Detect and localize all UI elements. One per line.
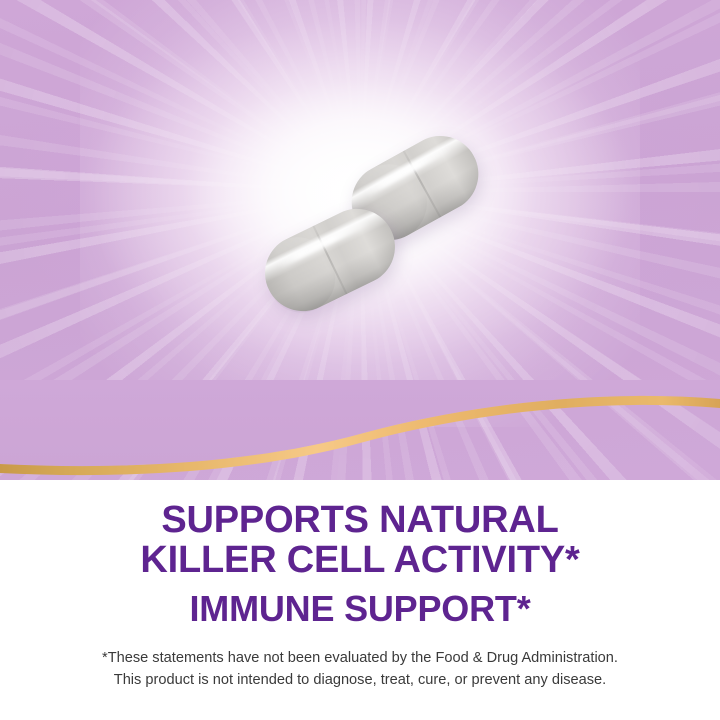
disclaimer: *These statements have not been evaluate… (40, 648, 680, 691)
text-panel: SUPPORTS NATURAL KILLER CELL ACTIVITY* I… (0, 480, 720, 720)
product-marketing-graphic: SUPPORTS NATURAL KILLER CELL ACTIVITY* I… (0, 0, 720, 720)
headline-primary: SUPPORTS NATURAL KILLER CELL ACTIVITY* (0, 500, 720, 581)
disclaimer-line1: *These statements have not been evaluate… (40, 648, 680, 670)
headline-primary-line1: SUPPORTS NATURAL (0, 500, 720, 540)
headline-primary-line2: KILLER CELL ACTIVITY* (0, 540, 720, 580)
wave-purple-fill (0, 380, 720, 466)
disclaimer-line2: This product is not intended to diagnose… (40, 670, 680, 692)
headline-secondary: IMMUNE SUPPORT* (0, 590, 720, 628)
gold-wave-svg (0, 380, 720, 490)
gold-wave-divider (0, 380, 720, 490)
